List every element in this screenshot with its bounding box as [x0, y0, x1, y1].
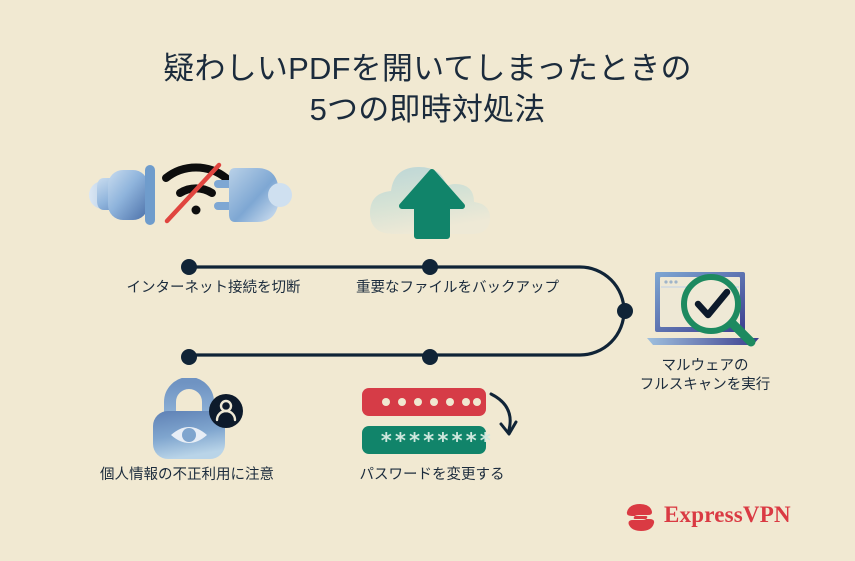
flow-dot-4 — [422, 349, 438, 365]
padlock-eye-person-icon — [148, 378, 244, 462]
expressvpn-brand-text: ExpressVPN — [664, 498, 791, 532]
page-title: 疑わしいPDFを開いてしまったときの 5つの即時対処法 — [0, 48, 855, 130]
flow-dot-3 — [617, 303, 633, 319]
cloud-upload-icon — [362, 148, 502, 248]
step-label-password: パスワードを変更する — [320, 466, 544, 485]
flow-connector-path — [160, 245, 660, 385]
step-label-scan: マルウェアの フルスキャンを実行 — [630, 357, 780, 395]
expressvpn-logo-mark — [624, 500, 658, 534]
step-label-backup: 重要なファイルをバックアップ — [320, 279, 595, 298]
flow-dot-1 — [181, 259, 197, 275]
flow-dot-2 — [422, 259, 438, 275]
step-label-disconnect: インターネット接続を切断 — [72, 279, 355, 298]
laptop-magnifier-check-icon — [645, 268, 761, 350]
password-change-icon: ******** — [358, 386, 518, 458]
expressvpn-logo: ExpressVPN — [624, 498, 789, 536]
infographic-canvas: 疑わしいPDFを開いてしまったときの 5つの即時対処法 — [0, 0, 855, 561]
new-password-mask-text: ******** — [380, 429, 493, 453]
flow-dot-5 — [181, 349, 197, 365]
unplug-no-wifi-icon — [88, 152, 294, 240]
step-label-identity: 個人情報の不正利用に注意 — [52, 466, 322, 485]
